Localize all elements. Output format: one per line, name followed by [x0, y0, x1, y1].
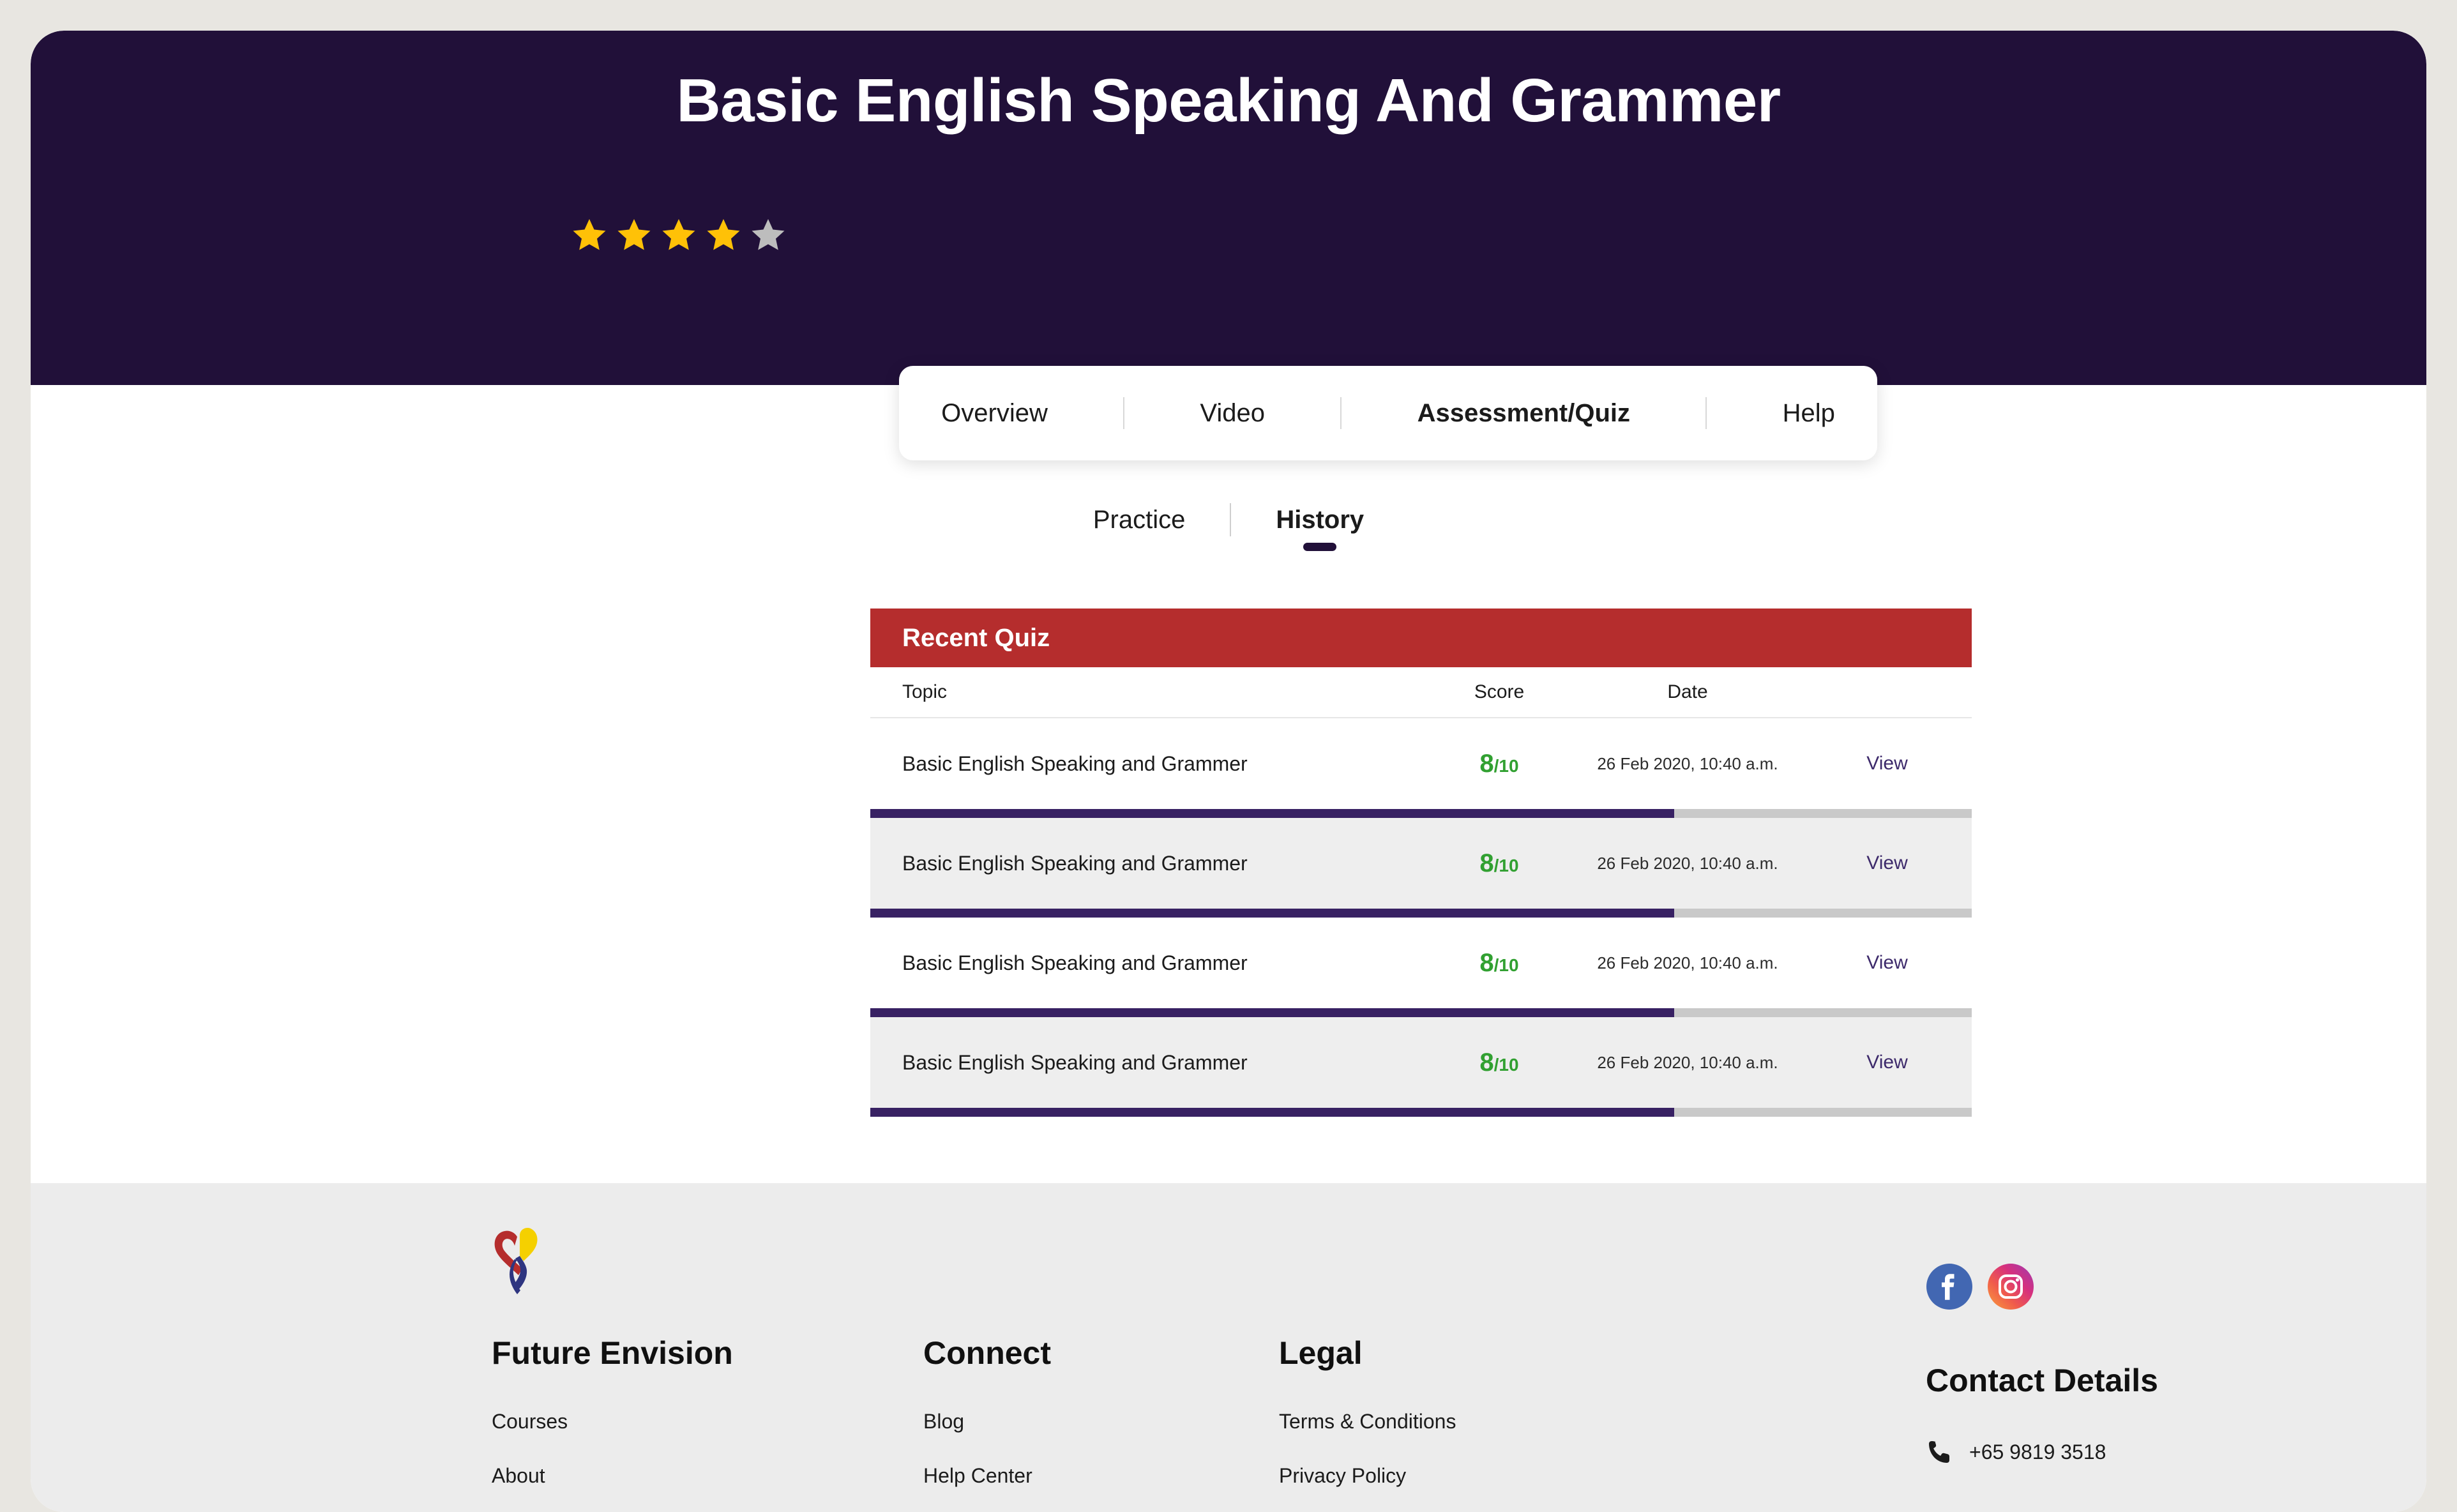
quiz-table-column-headers: Topic Score Date: [870, 667, 1972, 718]
contact-phone-row: +65 9819 3518: [1926, 1439, 2158, 1465]
quiz-row-date-cell: 26 Feb 2020, 10:40 a.m.: [1573, 854, 1803, 873]
quiz-row-date-cell: 26 Feb 2020, 10:40 a.m.: [1573, 953, 1803, 973]
subtab-label: Practice: [1093, 506, 1186, 534]
brand-logo-icon: [492, 1227, 547, 1296]
tab-overview[interactable]: Overview: [932, 399, 1057, 428]
assessment-subtab-bar: PracticeHistory: [31, 503, 2426, 536]
quiz-row-date: 26 Feb 2020, 10:40 a.m.: [1597, 854, 1778, 873]
footer-link-courses[interactable]: Courses: [492, 1410, 733, 1433]
view-quiz-link[interactable]: View: [1866, 753, 1907, 774]
subtab-label: History: [1276, 506, 1364, 534]
course-tab-bar: OverviewVideoAssessment/QuizHelp: [899, 366, 1877, 460]
view-quiz-link[interactable]: View: [1866, 852, 1907, 873]
quiz-row-progress-bar: [870, 1008, 1972, 1017]
footer-link-about[interactable]: About: [492, 1464, 733, 1488]
course-rating-stars: [571, 217, 787, 254]
quiz-row-progress-fill: [870, 909, 1674, 918]
active-subtab-indicator: [1303, 543, 1336, 551]
quiz-row-progress-bar: [870, 1108, 1972, 1117]
star-empty-icon: [750, 217, 787, 254]
view-quiz-link[interactable]: View: [1866, 1052, 1907, 1073]
footer-link-privacy-policy[interactable]: Privacy Policy: [1279, 1464, 1456, 1488]
subtab-practice[interactable]: Practice: [1048, 506, 1230, 534]
quiz-row-action-cell: View: [1803, 753, 1972, 775]
quiz-row-score-value: 8: [1479, 750, 1493, 778]
quiz-row-topic-cell: Basic English Speaking and Grammer: [870, 849, 1426, 878]
star-filled-icon: [616, 217, 653, 254]
footer-link-help-center[interactable]: Help Center: [923, 1464, 1051, 1488]
quiz-row-score-denominator: /10: [1494, 1055, 1519, 1075]
quiz-row-date-cell: 26 Feb 2020, 10:40 a.m.: [1573, 754, 1803, 774]
footer-column-connect: Connect Blog Help Center: [923, 1334, 1051, 1512]
instagram-icon[interactable]: [1987, 1263, 2034, 1310]
quiz-row-date-cell: 26 Feb 2020, 10:40 a.m.: [1573, 1053, 1803, 1073]
footer-column-future-envision: Future Envision Courses About: [492, 1334, 733, 1512]
tab-divider: [1123, 397, 1124, 429]
quiz-row-date: 26 Feb 2020, 10:40 a.m.: [1597, 754, 1778, 773]
column-header-score: Score: [1426, 681, 1573, 703]
footer-column-title: Connect: [923, 1334, 1051, 1372]
quiz-row-date: 26 Feb 2020, 10:40 a.m.: [1597, 1053, 1778, 1072]
star-filled-icon: [571, 217, 608, 254]
footer-column-title: Legal: [1279, 1334, 1456, 1372]
contact-details-title: Contact Details: [1926, 1362, 2158, 1399]
tab-video[interactable]: Video: [1191, 399, 1274, 428]
table-row: Basic English Speaking and Grammer8/1026…: [870, 1017, 1972, 1108]
quiz-row-topic-cell: Basic English Speaking and Grammer: [870, 1048, 1426, 1077]
quiz-row-score-cell: 8/10: [1426, 750, 1573, 778]
footer-social-links: [1926, 1263, 2034, 1310]
footer-link-terms-and-conditions[interactable]: Terms & Conditions: [1279, 1410, 1456, 1433]
quiz-row-topic: Basic English Speaking and Grammer: [902, 1048, 1426, 1077]
view-quiz-link[interactable]: View: [1866, 952, 1907, 973]
quiz-row-score-value: 8: [1479, 849, 1493, 877]
quiz-row-action-cell: View: [1803, 1052, 1972, 1073]
quiz-row-score-denominator: /10: [1494, 756, 1519, 776]
quiz-row-progress-bar: [870, 809, 1972, 818]
footer-column-legal: Legal Terms & Conditions Privacy Policy: [1279, 1334, 1456, 1512]
quiz-row-topic-cell: Basic English Speaking and Grammer: [870, 749, 1426, 778]
quiz-row-action-cell: View: [1803, 952, 1972, 974]
recent-quiz-table: Recent Quiz Topic Score Date Basic Engli…: [870, 609, 1972, 1117]
quiz-row-score-denominator: /10: [1494, 955, 1519, 975]
tab-divider: [1340, 397, 1342, 429]
column-header-date: Date: [1573, 681, 1803, 703]
quiz-row-progress-bar: [870, 909, 1972, 918]
quiz-row-score-value: 8: [1479, 1048, 1493, 1077]
quiz-row-action-cell: View: [1803, 852, 1972, 874]
recent-quiz-header: Recent Quiz: [870, 609, 1972, 667]
quiz-row-date: 26 Feb 2020, 10:40 a.m.: [1597, 953, 1778, 972]
quiz-row-score-value: 8: [1479, 949, 1493, 977]
contact-phone-number[interactable]: +65 9819 3518: [1969, 1440, 2106, 1464]
phone-icon: [1926, 1439, 1953, 1465]
tab-help[interactable]: Help: [1774, 399, 1844, 428]
subtab-history[interactable]: History: [1231, 506, 1409, 534]
recent-quiz-title: Recent Quiz: [902, 624, 1050, 653]
footer-link-blog[interactable]: Blog: [923, 1410, 1051, 1433]
footer-column-title: Future Envision: [492, 1334, 733, 1372]
column-header-topic: Topic: [870, 681, 1426, 703]
quiz-row-topic: Basic English Speaking and Grammer: [902, 849, 1426, 878]
quiz-row-score-cell: 8/10: [1426, 849, 1573, 878]
footer-contact-details: Contact Details +65 9819 3518: [1926, 1362, 2158, 1465]
star-filled-icon: [705, 217, 742, 254]
table-row: Basic English Speaking and Grammer8/1026…: [870, 718, 1972, 809]
quiz-row-progress-fill: [870, 1108, 1674, 1117]
tab-assessment-quiz[interactable]: Assessment/Quiz: [1409, 399, 1639, 428]
quiz-row-progress-fill: [870, 1008, 1674, 1017]
table-row: Basic English Speaking and Grammer8/1026…: [870, 918, 1972, 1008]
quiz-row-progress-fill: [870, 809, 1674, 818]
tab-divider: [1705, 397, 1707, 429]
quiz-row-topic: Basic English Speaking and Grammer: [902, 749, 1426, 778]
quiz-row-score-cell: 8/10: [1426, 1048, 1573, 1077]
star-filled-icon: [660, 217, 697, 254]
page-frame: Basic English Speaking And Grammer Overv…: [31, 31, 2426, 1512]
course-hero-banner: Basic English Speaking And Grammer: [31, 31, 2426, 385]
facebook-icon[interactable]: [1926, 1263, 1973, 1310]
quiz-row-topic-cell: Basic English Speaking and Grammer: [870, 948, 1426, 978]
quiz-row-score-denominator: /10: [1494, 856, 1519, 875]
table-row: Basic English Speaking and Grammer8/1026…: [870, 818, 1972, 909]
quiz-row-score-cell: 8/10: [1426, 949, 1573, 978]
page-title: Basic English Speaking And Grammer: [31, 66, 2426, 136]
quiz-row-topic: Basic English Speaking and Grammer: [902, 948, 1426, 978]
